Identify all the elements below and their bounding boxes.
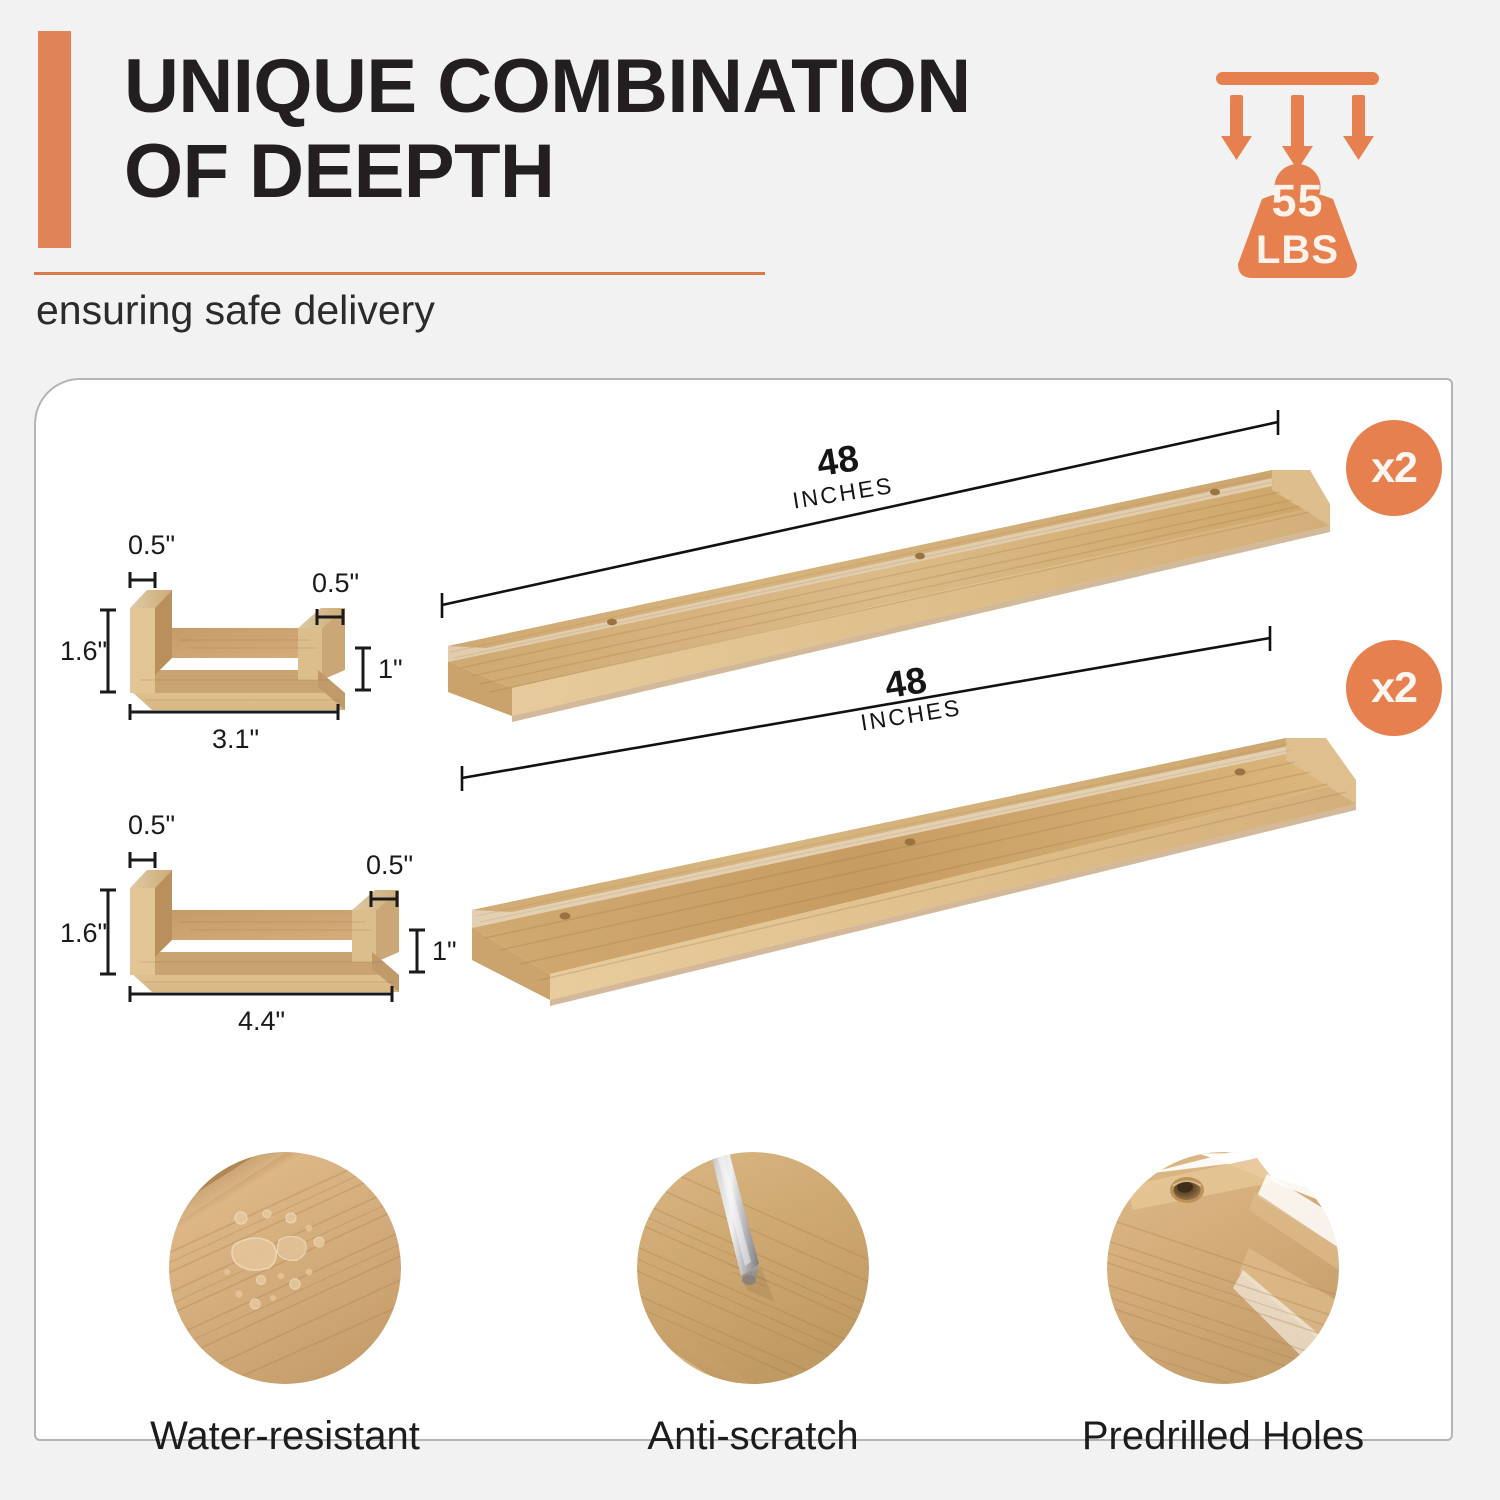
dim-label-depth-deep: 4.4" bbox=[238, 1006, 285, 1036]
cross-section-shallow: 0.5" 0.5" 1.6" 1" bbox=[60, 520, 460, 810]
predrilled-hole bbox=[1170, 1177, 1204, 1203]
weight-unit: LBS bbox=[1256, 228, 1339, 272]
cross-section-deep: 0.5" 0.5" 1.6" 1" bbox=[60, 800, 490, 1090]
feature-water-resistant: Water-resistant bbox=[135, 1152, 435, 1459]
dim-label-left-thickness-deep: 0.5" bbox=[128, 810, 175, 840]
down-arrows-icon bbox=[1221, 95, 1374, 170]
dim-label-right-thickness-deep: 0.5" bbox=[366, 850, 413, 880]
dim-left-thickness-shallow bbox=[130, 572, 155, 588]
dim-lip-shallow bbox=[355, 648, 371, 690]
metal-tool-on-wood-icon bbox=[637, 1152, 869, 1384]
page-title-line-2: OF DEEPTH bbox=[124, 129, 1164, 214]
drilled-hole-in-wood-icon bbox=[1107, 1152, 1339, 1384]
feature-label-anti-scratch: Anti-scratch bbox=[603, 1414, 903, 1459]
feature-label-water-resistant: Water-resistant bbox=[135, 1414, 435, 1459]
page-subtitle: ensuring safe delivery bbox=[36, 287, 435, 334]
infographic-page: UNIQUE COMBINATION OF DEEPTH ensuring sa… bbox=[0, 0, 1500, 1500]
dim-label-lip-shallow: 1" bbox=[378, 654, 403, 684]
weight-value: 55 bbox=[1271, 175, 1323, 226]
dim-label-depth-shallow: 3.1" bbox=[212, 724, 259, 754]
weight-capacity-icon: 55 LBS bbox=[1205, 66, 1390, 286]
page-title: UNIQUE COMBINATION OF DEEPTH bbox=[124, 44, 1164, 214]
feature-label-predrilled-holes: Predrilled Holes bbox=[1073, 1414, 1373, 1459]
dim-label-height-deep: 1.6" bbox=[60, 918, 107, 948]
page-title-line-1: UNIQUE COMBINATION bbox=[124, 44, 1164, 129]
dim-lip-deep bbox=[409, 930, 425, 972]
feature-predrilled-holes: Predrilled Holes bbox=[1073, 1152, 1373, 1459]
dim-left-thickness-deep bbox=[130, 852, 155, 868]
header-divider bbox=[34, 272, 765, 275]
feature-anti-scratch: Anti-scratch bbox=[603, 1152, 903, 1459]
dim-label-height-shallow: 1.6" bbox=[60, 636, 107, 666]
dim-label-left-thickness-shallow: 0.5" bbox=[128, 530, 175, 560]
water-droplets-on-wood-icon bbox=[169, 1152, 401, 1384]
header-accent-bar bbox=[38, 31, 71, 248]
weight-top-bar-icon bbox=[1216, 72, 1379, 85]
quantity-badge-upper: x2 bbox=[1346, 420, 1442, 516]
dim-label-right-thickness-shallow: 0.5" bbox=[312, 568, 359, 598]
quantity-badge-lower: x2 bbox=[1346, 640, 1442, 736]
